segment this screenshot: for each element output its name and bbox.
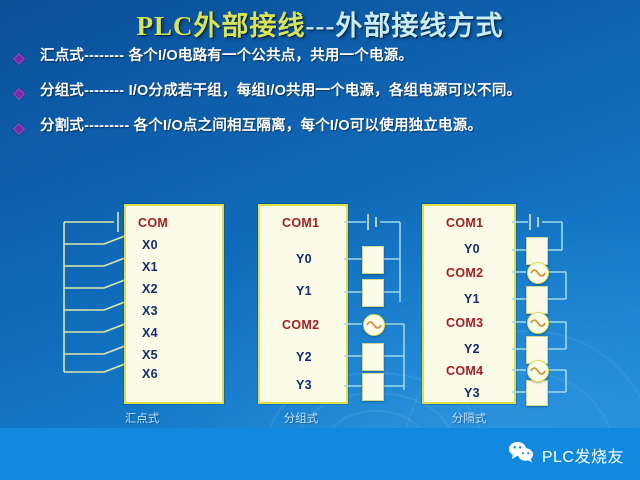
bullet-body-1: 各个I/O电路有一个公共点，共用一个电源。	[124, 48, 413, 64]
slide-root: PLC外部接线---外部接线方式 汇点式-------- 各个I/O电路有一个公…	[0, 0, 640, 480]
diagram-common-point: COM X0 X1 X2 X3 X4 X5 X6 汇点式	[56, 204, 220, 414]
diagram-area: COM X0 X1 X2 X3 X4 X5 X6 汇点式 COM1 Y0 Y1 …	[0, 196, 640, 426]
slide-title: PLC外部接线---外部接线方式	[0, 4, 640, 43]
ac-source-3	[527, 312, 549, 334]
diagram-2-wiring	[258, 204, 418, 404]
wechat-icon	[508, 441, 534, 468]
terminal-x4: X4	[142, 326, 158, 340]
bullet-item-2: 分组式-------- I/O分成若干组，每组I/O共用一个电源，各组电源可以不…	[14, 81, 626, 102]
load-y3	[526, 380, 548, 406]
brand-block[interactable]: PLC发烧友	[508, 441, 624, 468]
diagram-caption-3: 分隔式	[424, 410, 514, 426]
diagram-grouped: COM1 Y0 Y1 COM2 Y2 Y3	[258, 204, 418, 414]
diagram-3-wiring	[422, 204, 592, 404]
ac-source-2	[363, 314, 385, 336]
plc-module-1	[124, 204, 224, 404]
terminal-x3: X3	[142, 304, 158, 318]
bullet-diamond-icon	[13, 123, 25, 135]
terminal-com: COM	[138, 216, 168, 230]
load-y3	[362, 373, 384, 401]
terminal-x6: X6	[142, 367, 158, 381]
diagram-caption-1: 汇点式	[94, 410, 190, 426]
brand-name: PLC发烧友	[542, 443, 624, 467]
bullet-list: 汇点式-------- 各个I/O电路有一个公共点，共用一个电源。 分组式---…	[14, 46, 626, 151]
bullet-diamond-icon	[13, 53, 25, 65]
slide-title-sub: ---外部接线方式	[306, 11, 504, 41]
ac-source-2	[527, 262, 549, 284]
bullet-body-2: I/O分成若干组，每组I/O共用一个电源，各组电源可以不同。	[124, 83, 521, 99]
bullet-item-1: 汇点式-------- 各个I/O电路有一个公共点，共用一个电源。	[14, 46, 626, 67]
bullet-text-1: 汇点式-------- 各个I/O电路有一个公共点，共用一个电源。	[40, 46, 413, 67]
bullet-item-3: 分割式--------- 各个I/O点之间相互隔离，每个I/O可以使用独立电源。	[14, 116, 626, 137]
load-y1	[526, 286, 548, 314]
terminal-x0: X0	[142, 238, 158, 252]
bullet-body-3: 各个I/O点之间相互隔离，每个I/O可以使用独立电源。	[129, 118, 482, 134]
footer-bar: PLC发烧友	[0, 428, 640, 480]
diagram-caption-2: 分组式	[258, 410, 344, 426]
ac-source-4	[527, 360, 549, 382]
bullet-lead-3: 分割式---------	[40, 118, 129, 134]
bullet-lead-2: 分组式--------	[40, 83, 124, 99]
bullet-lead-1: 汇点式--------	[40, 48, 124, 64]
terminal-x1: X1	[142, 260, 158, 274]
terminal-x2: X2	[142, 282, 158, 296]
terminal-x5: X5	[142, 348, 158, 362]
bullet-text-3: 分割式--------- 各个I/O点之间相互隔离，每个I/O可以使用独立电源。	[40, 116, 482, 137]
load-y0	[362, 246, 384, 274]
load-y1	[362, 279, 384, 307]
load-y2	[362, 343, 384, 371]
load-y0	[526, 237, 548, 265]
bullet-diamond-icon	[13, 88, 25, 100]
bullet-text-2: 分组式-------- I/O分成若干组，每组I/O共用一个电源，各组电源可以不…	[40, 81, 521, 102]
diagram-isolated: COM1 Y0 COM2 Y1 COM3 Y2 COM4 Y3	[422, 204, 592, 414]
slide-title-main: PLC外部接线	[137, 11, 306, 41]
